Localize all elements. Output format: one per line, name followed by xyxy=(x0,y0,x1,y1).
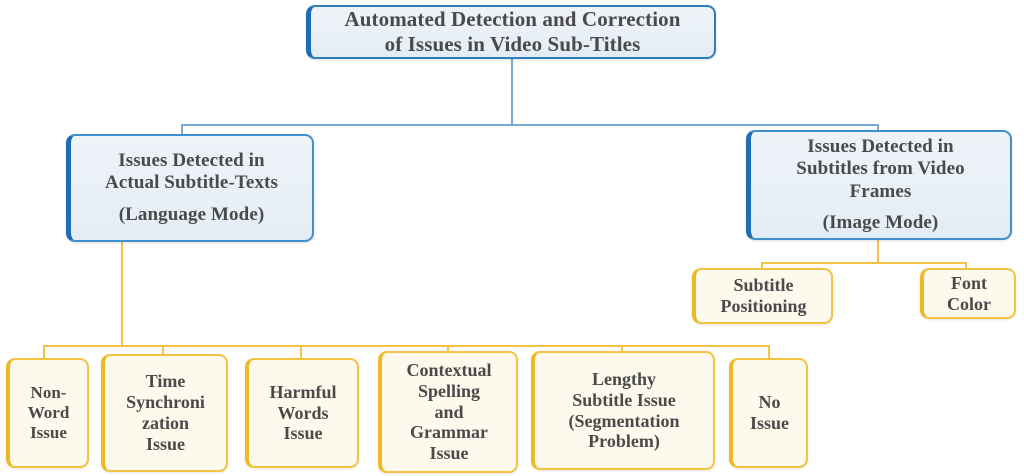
branch-image-line3: Frames xyxy=(850,181,912,203)
connector-language-horizontal xyxy=(43,345,770,347)
connector-leaf-stub-no-issue xyxy=(768,345,770,358)
leaf-font-color-line1: Font xyxy=(951,273,987,294)
flowchart-diagram: Automated Detection and Correction of Is… xyxy=(0,0,1024,476)
leaf-time-sync-line2: Synchroni xyxy=(126,392,205,413)
leaf-non-word-issue-line2: Word xyxy=(28,403,70,423)
leaf-subtitle-positioning-line2: Positioning xyxy=(720,296,806,317)
branch-image-line2: Subtitles from Video xyxy=(796,158,964,180)
branch-image-mode-label: (Image Mode) xyxy=(823,212,939,234)
leaf-contextual-line3: and xyxy=(434,402,463,423)
leaf-lengthy-line1: Lengthy xyxy=(592,369,656,390)
leaf-harmful-words-line1: Harmful xyxy=(270,382,337,403)
connector-leaf-stub-non-word xyxy=(43,345,45,358)
leaf-no-issue[interactable]: No Issue xyxy=(729,358,808,468)
leaf-font-color[interactable]: Font Color xyxy=(920,268,1016,319)
connector-root-horizontal xyxy=(181,124,879,126)
connector-root-vertical xyxy=(511,58,513,125)
branch-language-line2: Actual Subtitle-Texts xyxy=(105,172,278,194)
leaf-harmful-words-issue[interactable]: Harmful Words Issue xyxy=(245,358,359,468)
branch-image-line1: Issues Detected in xyxy=(807,136,953,158)
leaf-subtitle-positioning[interactable]: Subtitle Positioning xyxy=(692,268,833,324)
leaf-no-issue-line1: No xyxy=(759,392,781,413)
leaf-lengthy-line3: (Segmentation xyxy=(569,411,680,432)
root-node[interactable]: Automated Detection and Correction of Is… xyxy=(306,5,716,59)
leaf-contextual-line5: Issue xyxy=(429,443,468,464)
branch-language-line1: Issues Detected in xyxy=(118,150,264,172)
leaf-non-word-issue[interactable]: Non- Word Issue xyxy=(6,358,89,468)
connector-leaf-stub-harmful xyxy=(300,345,302,358)
leaf-time-sync-line3: zation xyxy=(142,413,189,434)
leaf-subtitle-positioning-line1: Subtitle xyxy=(733,275,793,296)
leaf-lengthy-subtitle-issue[interactable]: Lengthy Subtitle Issue (Segmentation Pro… xyxy=(531,351,715,470)
leaf-lengthy-line4: Problem) xyxy=(588,431,660,452)
leaf-time-sync-line1: Time xyxy=(146,371,186,392)
branch-node-language-mode[interactable]: Issues Detected in Actual Subtitle-Texts… xyxy=(66,134,314,242)
leaf-non-word-issue-line3: Issue xyxy=(30,423,67,443)
connector-leaf-stub-time-sync xyxy=(162,345,164,354)
root-node-line1: Automated Detection and Correction xyxy=(344,7,680,32)
leaf-time-sync-line4: Issue xyxy=(146,434,185,455)
connector-language-vertical xyxy=(121,242,123,346)
leaf-contextual-spelling-grammar-issue[interactable]: Contextual Spelling and Grammar Issue xyxy=(378,351,518,473)
leaf-no-issue-line2: Issue xyxy=(750,413,789,434)
leaf-contextual-line4: Grammar xyxy=(410,422,488,443)
branch-node-image-mode[interactable]: Issues Detected in Subtitles from Video … xyxy=(746,130,1012,240)
connector-image-vertical xyxy=(877,240,879,263)
branch-language-mode-label: (Language Mode) xyxy=(119,204,265,226)
leaf-harmful-words-line2: Words xyxy=(277,403,328,424)
root-node-line2: of Issues in Video Sub-Titles xyxy=(385,32,641,57)
leaf-lengthy-line2: Subtitle Issue xyxy=(572,390,676,411)
leaf-contextual-line1: Contextual xyxy=(407,360,492,381)
leaf-contextual-line2: Spelling xyxy=(418,381,480,402)
leaf-font-color-line2: Color xyxy=(947,294,991,315)
leaf-non-word-issue-line1: Non- xyxy=(31,383,67,403)
leaf-time-synchronization-issue[interactable]: Time Synchroni zation Issue xyxy=(101,354,228,472)
connector-image-horizontal xyxy=(761,262,967,264)
leaf-harmful-words-line3: Issue xyxy=(283,423,322,444)
